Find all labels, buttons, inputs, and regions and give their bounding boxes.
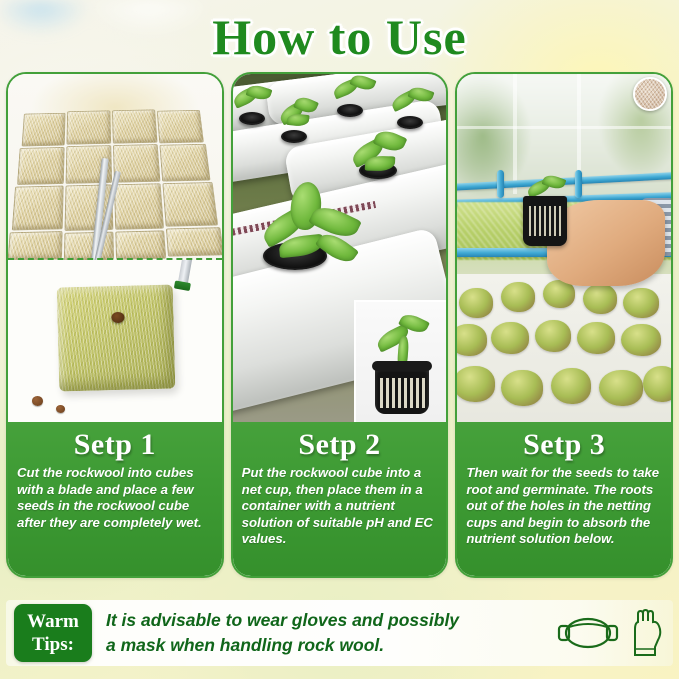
rockwool-tray-photo	[8, 74, 222, 260]
net-cup-icon	[239, 112, 265, 125]
blade-icon	[177, 260, 192, 287]
net-cup-icon	[523, 196, 567, 246]
net-cup-icon	[337, 104, 363, 117]
warm-tips-badge: Warm Tips:	[14, 604, 92, 662]
step-2-image	[233, 74, 447, 422]
step-card-2: Setp 2 Put the rockwool cube into a net …	[231, 72, 449, 578]
warm-tips-badge-line1: Warm	[27, 610, 79, 633]
rockwool-cube	[112, 109, 157, 143]
rockwool-cube	[166, 227, 222, 256]
page-title: How to Use	[212, 8, 466, 66]
seed-icon	[32, 396, 43, 406]
seed-hole-icon	[111, 312, 124, 323]
step-1-title: Setp 1	[74, 428, 156, 462]
how-to-use-infographic: How to Use	[0, 0, 679, 679]
rockwool-cube	[114, 183, 164, 229]
single-rockwool-cube-photo	[8, 260, 222, 422]
step-card-3: Setp 3 Then wait for the seeds to take r…	[455, 72, 673, 578]
step-1-textbox: Setp 1 Cut the rockwool into cubes with …	[8, 422, 222, 576]
greenhouse-frame	[457, 126, 671, 129]
seed-icon	[56, 405, 65, 413]
rockwool-badge-icon	[633, 77, 667, 111]
step-2-title: Setp 2	[298, 428, 380, 462]
rockwool-cube	[17, 147, 65, 185]
blue-pipe	[575, 170, 582, 198]
step-3-title: Setp 3	[523, 428, 605, 462]
steps-container: Setp 1 Cut the rockwool into cubes with …	[6, 72, 673, 578]
step-3-textbox: Setp 3 Then wait for the seeds to take r…	[457, 422, 671, 576]
net-cup-inset-photo	[354, 300, 446, 422]
step-2-textbox: Setp 2 Put the rockwool cube into a net …	[233, 422, 447, 576]
rockwool-cube	[12, 186, 64, 231]
glove-icon	[629, 609, 663, 657]
face-mask-icon	[557, 613, 619, 653]
net-cup-icon	[375, 366, 429, 414]
rockwool-cube	[22, 113, 66, 147]
rockwool-cube	[113, 144, 160, 183]
greenhouse-photo	[457, 74, 671, 422]
rockwool-cube	[159, 144, 210, 182]
net-cup-icon	[281, 130, 307, 143]
blue-pipe	[497, 170, 504, 198]
warm-tips-bar: Warm Tips: It is advisable to wear glove…	[6, 600, 673, 666]
warm-tips-badge-line2: Tips:	[32, 633, 74, 656]
hydroponic-pipes-photo	[233, 74, 447, 422]
net-cup-tray	[457, 274, 671, 422]
greenhouse-frame	[513, 74, 517, 194]
rockwool-cube	[8, 231, 63, 260]
rockwool-cube	[64, 232, 114, 260]
rockwool-cube	[157, 110, 204, 143]
step-3-image	[457, 74, 671, 422]
wet-rockwool-cube	[57, 284, 176, 391]
rockwool-cube	[162, 182, 218, 227]
warm-tips-icons	[557, 609, 663, 657]
step-1-description: Cut the rockwool into cubes with a blade…	[17, 465, 213, 531]
warm-tips-text-line2: a mask when handling rock wool.	[106, 633, 557, 658]
warm-tips-text: It is advisable to wear gloves and possi…	[106, 608, 557, 658]
step-card-1: Setp 1 Cut the rockwool into cubes with …	[6, 72, 224, 578]
page-title-container: How to Use	[0, 8, 679, 66]
rockwool-cube	[66, 110, 111, 144]
net-cup-icon	[397, 116, 423, 129]
step-1-image	[8, 74, 222, 422]
step-2-description: Put the rockwool cube into a net cup, th…	[242, 465, 438, 548]
step-3-description: Then wait for the seeds to take root and…	[466, 465, 662, 548]
rockwool-cube	[115, 230, 166, 259]
warm-tips-text-line1: It is advisable to wear gloves and possi…	[106, 608, 557, 633]
